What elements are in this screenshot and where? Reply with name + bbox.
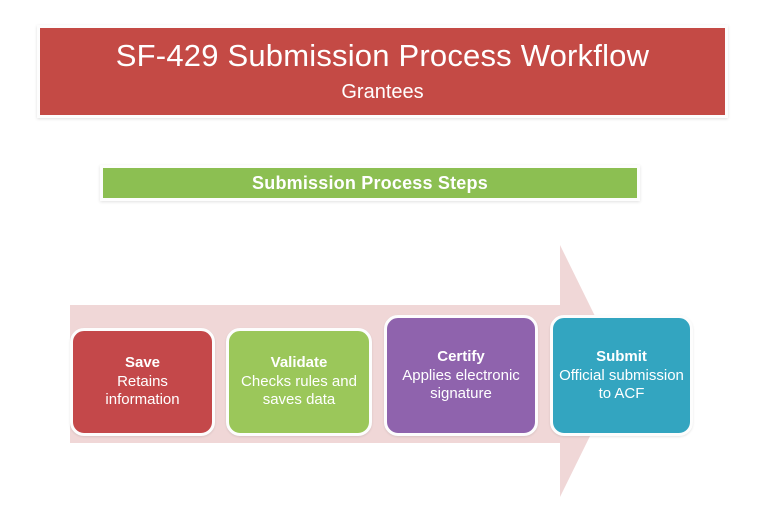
process-step-submit[interactable]: Submit Official submission to ACF: [550, 315, 693, 436]
process-step-description: Applies electronic signature: [393, 367, 529, 404]
process-step-certify[interactable]: Certify Applies electronic signature: [384, 315, 538, 436]
process-step-title: Save: [125, 354, 160, 373]
workflow-diagram-canvas: SF-429 Submission Process Workflow Grant…: [0, 0, 768, 524]
process-step-title: Submit: [596, 348, 647, 367]
process-step-description: Checks rules and saves data: [235, 373, 363, 410]
process-steps-list: Save Retains information Validate Checks…: [0, 0, 768, 524]
process-step-title: Certify: [437, 348, 485, 367]
process-step-save[interactable]: Save Retains information: [70, 328, 215, 436]
process-step-validate[interactable]: Validate Checks rules and saves data: [226, 328, 372, 436]
process-step-description: Official submission to ACF: [559, 367, 684, 404]
process-step-description: Retains information: [79, 373, 206, 410]
process-step-title: Validate: [271, 354, 328, 373]
